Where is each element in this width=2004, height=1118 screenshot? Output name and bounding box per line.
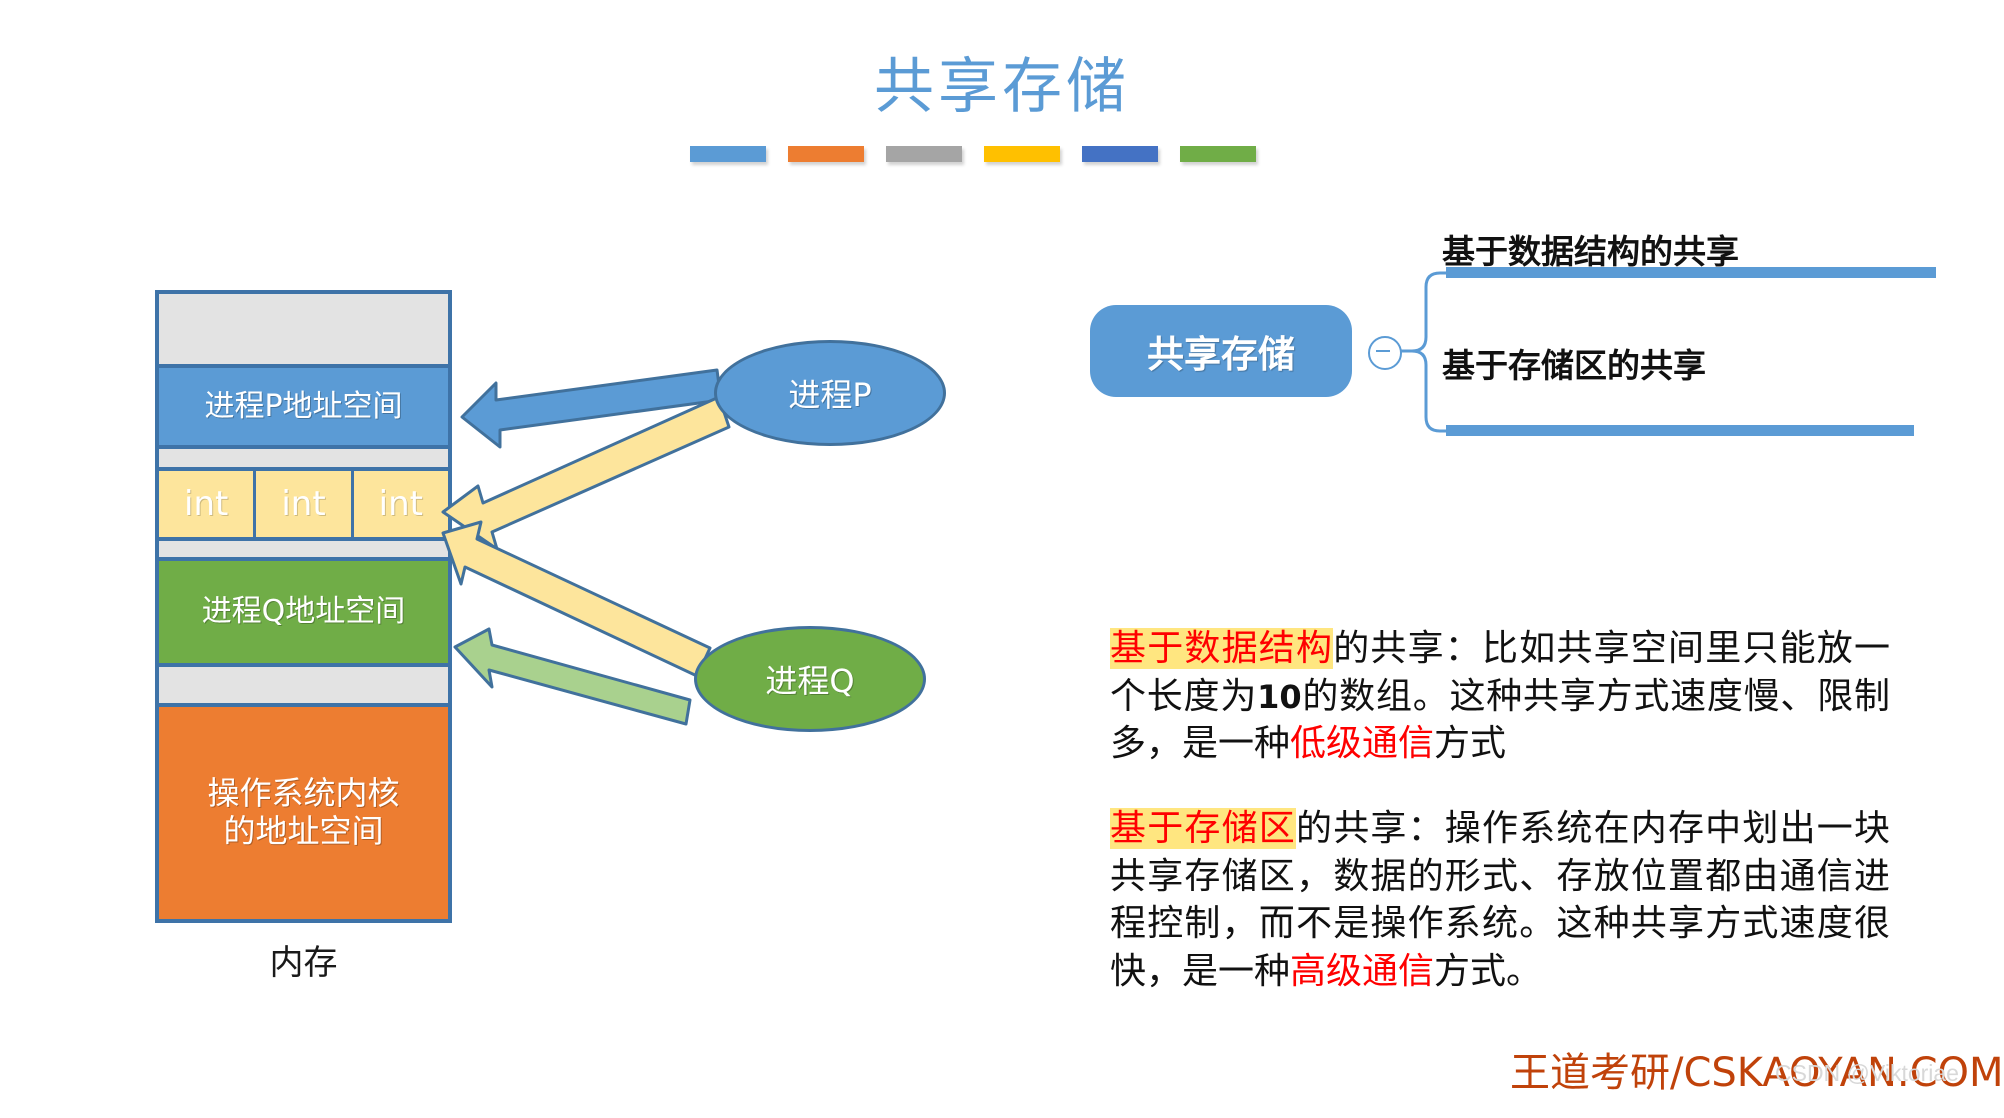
memory-diagram: 进程P地址空间 int int int 进程Q地址空间 操作系统内核 的地址空间 [155, 290, 452, 923]
memory-block-kernel: 操作系统内核 的地址空间 [159, 703, 448, 919]
paragraph-memory-region-sharing: 基于存储区的共享：操作系统在内存中划出一块共享存储区，数据的形式、存放位置都由通… [1110, 805, 1890, 995]
paragraph-data-structure-sharing: 基于数据结构的共享：比如共享空间里只能放一个长度为10的数组。这种共享方式速度慢… [1110, 625, 1890, 768]
mindmap-root-node[interactable]: 共享存储 [1090, 305, 1352, 397]
arrow-q-to-q-space [455, 629, 690, 724]
para1-number: 10 [1257, 678, 1302, 716]
int-cell-3: int [354, 471, 448, 537]
memory-block-free-top [159, 294, 448, 364]
accent-bar-orange [788, 146, 864, 162]
para2-highlight: 基于存储区 [1110, 808, 1296, 849]
accent-bar-indigo [1082, 146, 1158, 162]
process-p-node: 进程P [714, 340, 946, 446]
arrow-p-to-shared [443, 397, 729, 549]
slide-canvas: 共享存储 进程P地址空间 int int int 进程Q地址空间 操作系统内核 … [0, 0, 2004, 1118]
accent-bar-blue [690, 146, 766, 162]
memory-caption: 内存 [155, 935, 452, 984]
memory-block-process-q: 进程Q地址空间 [159, 557, 448, 667]
kernel-label-line1: 操作系统内核 [207, 774, 399, 812]
mindmap: 共享存储 基于数据结构的共享 基于存储区的共享 [1090, 255, 1940, 445]
accent-bar-yellow [984, 146, 1060, 162]
accent-bar-gray [886, 146, 962, 162]
kernel-label-line2: 的地址空间 [223, 812, 383, 850]
memory-block-shared-ints: int int int [159, 467, 448, 541]
memory-block-process-p: 进程P地址空间 [159, 364, 448, 449]
mindmap-branch-underline-1 [1446, 267, 1936, 278]
memory-block-gap-3 [159, 667, 448, 703]
mindmap-branch-underline-2 [1446, 425, 1914, 436]
memory-block-gap-2 [159, 541, 448, 557]
page-title: 共享存储 [0, 38, 2004, 125]
process-q-node: 进程Q [694, 626, 926, 732]
int-cell-1: int [159, 471, 256, 537]
mindmap-collapse-toggle-icon[interactable] [1368, 336, 1402, 370]
para1-highlight: 基于数据结构 [1110, 628, 1333, 669]
title-accent-bars [690, 146, 1256, 162]
accent-bar-green [1180, 146, 1256, 162]
para1-emphasis: 低级通信 [1290, 723, 1434, 764]
arrow-q-to-shared [443, 522, 710, 676]
para2-emphasis: 高级通信 [1290, 951, 1434, 992]
int-cell-2: int [256, 471, 353, 537]
mindmap-branch-label-1[interactable]: 基于数据结构的共享 [1442, 225, 1739, 273]
para1-tail: 方式 [1434, 723, 1506, 764]
para2-tail: 方式。 [1434, 951, 1542, 992]
memory-block-gap-1 [159, 449, 448, 467]
csdn-watermark: CSDN @Viktoriae [1775, 1060, 1959, 1087]
mindmap-branch-label-2[interactable]: 基于存储区的共享 [1442, 339, 1706, 387]
arrow-p-to-p-space [462, 370, 721, 447]
